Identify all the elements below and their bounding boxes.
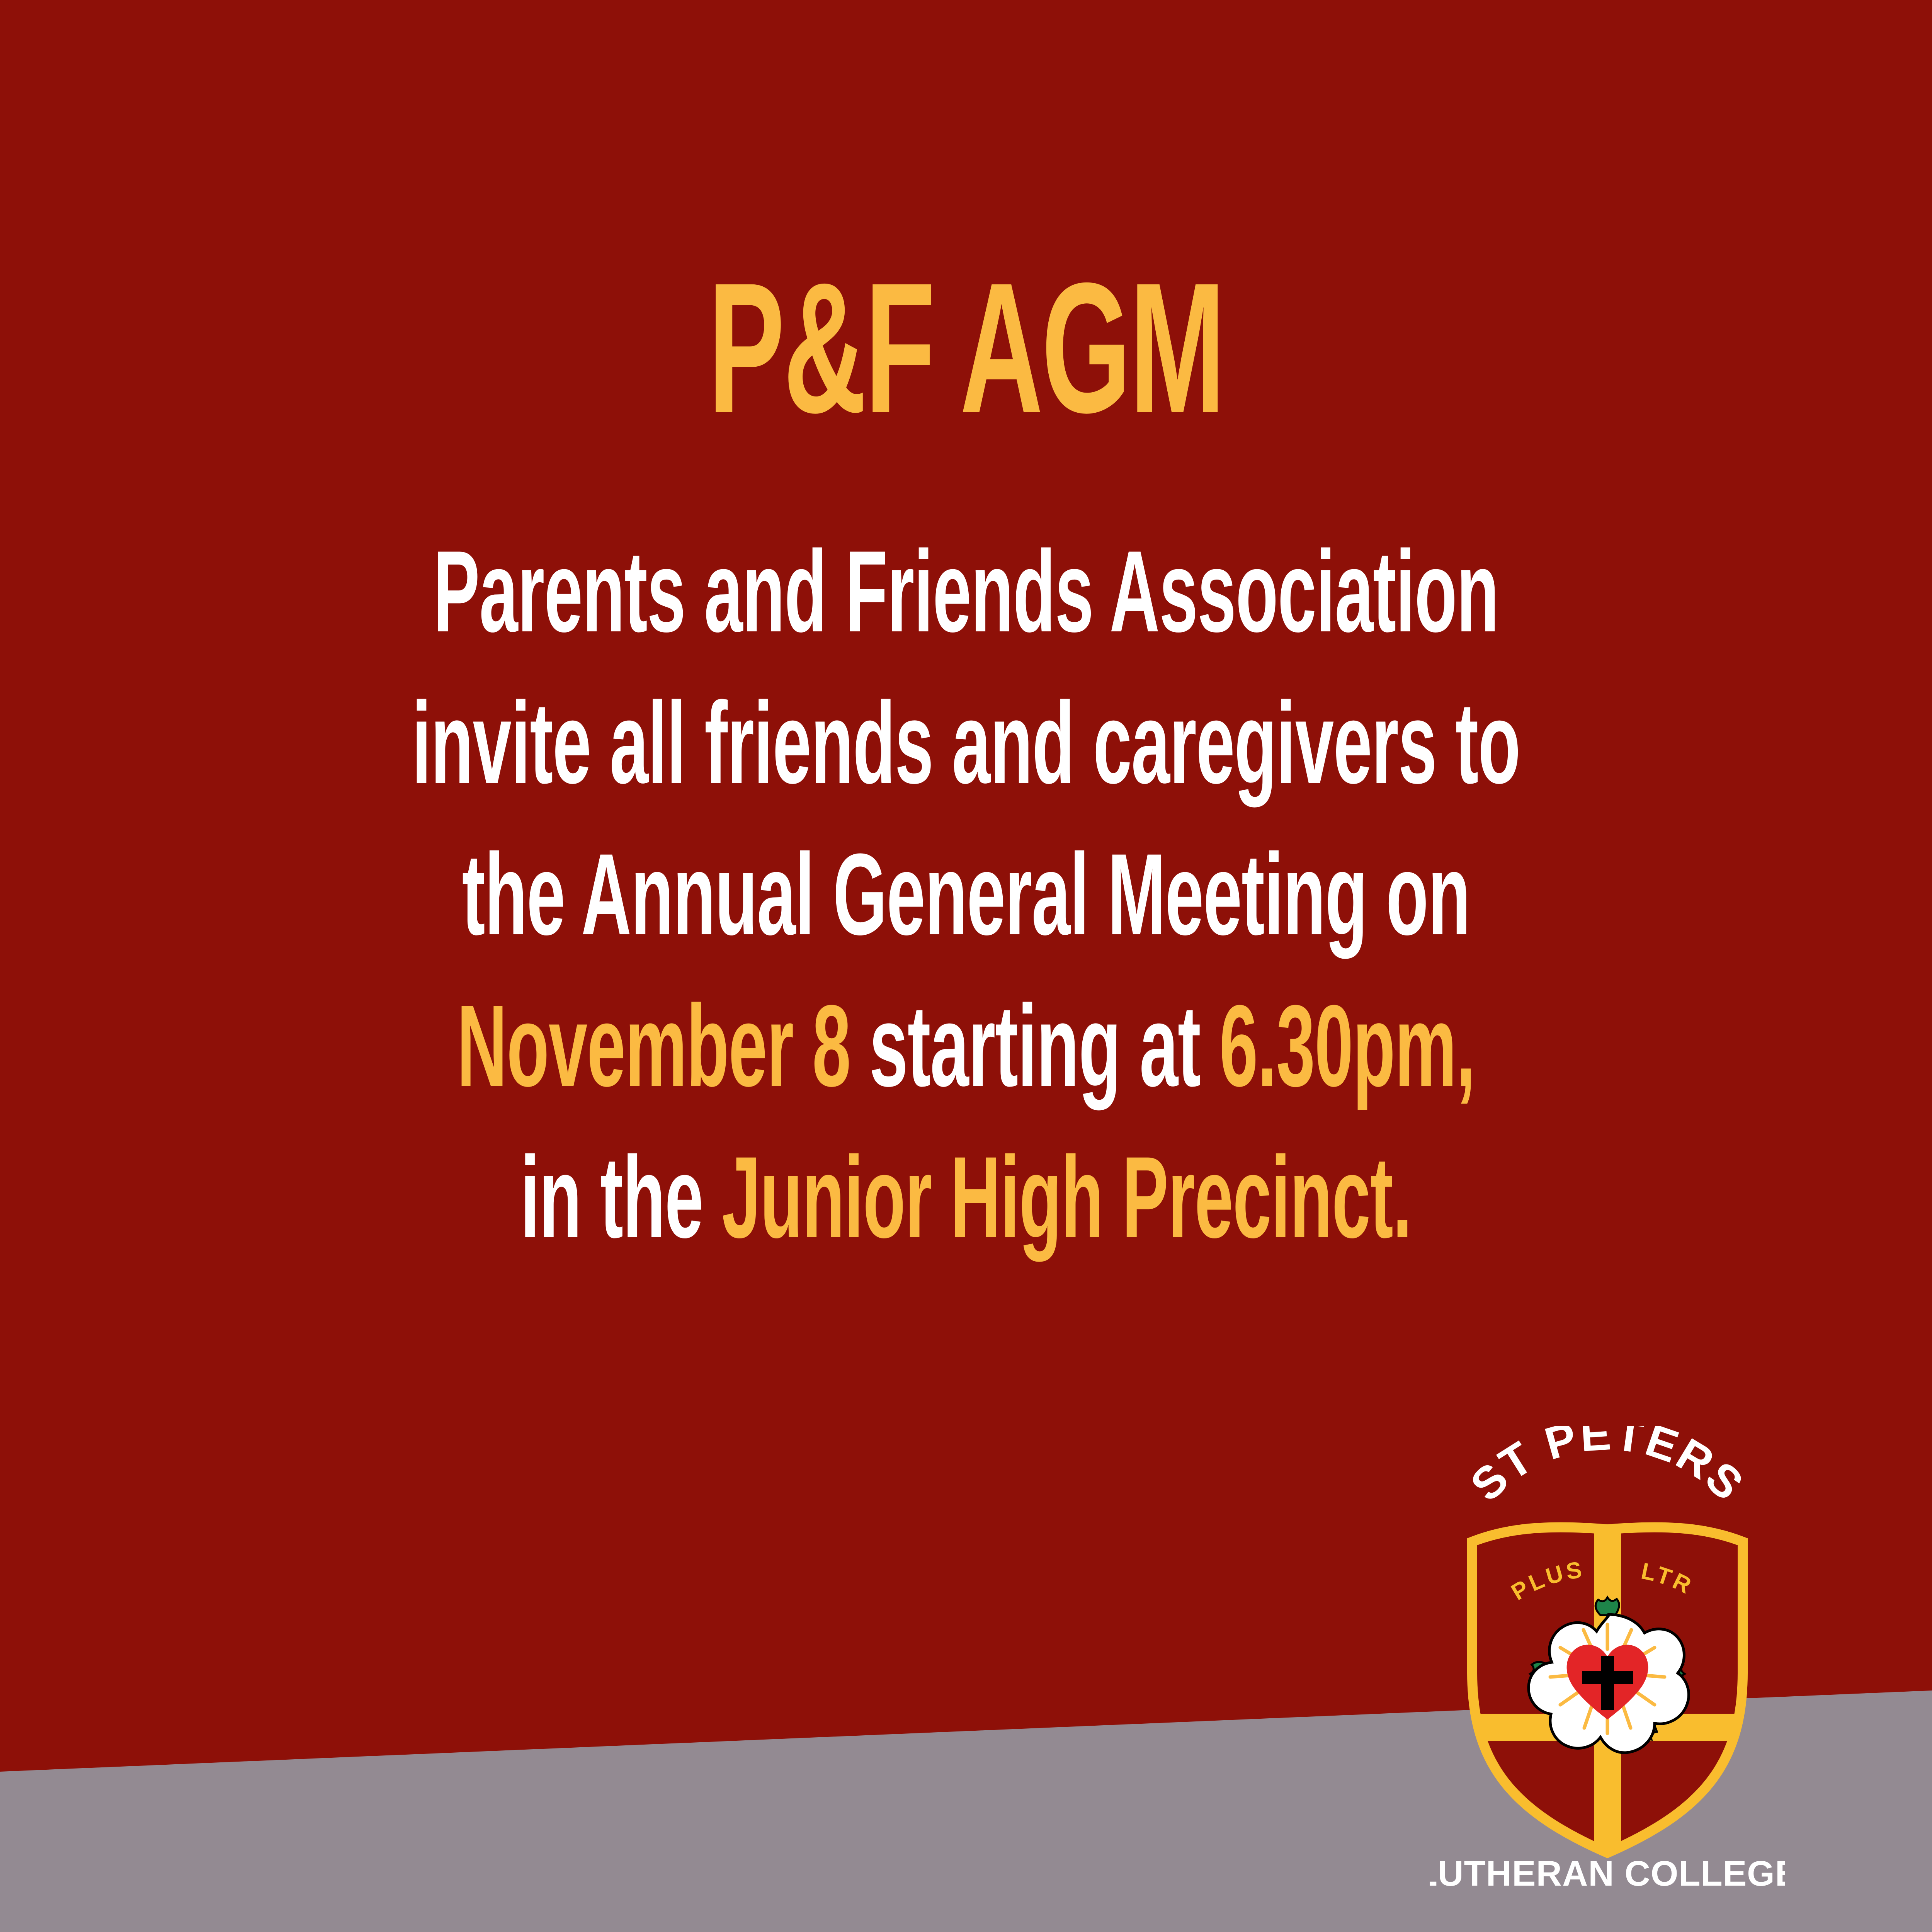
poster-canvas: P&F AGM Parents and Friends Association … [0, 0, 1932, 1932]
body-line-3-text: the Annual General Meeting on [462, 829, 1470, 959]
logo-bottom-text: LUTHERAN COLLEGE [1430, 1854, 1785, 1893]
body-line-4-connector: starting at [850, 981, 1219, 1111]
invitation-body: Parents and Friends Association invite a… [0, 533, 1932, 1291]
event-time: 6.30pm, [1219, 981, 1475, 1111]
body-line-1: Parents and Friends Association [386, 533, 1546, 685]
body-line-5: in the Junior High Precinct. [386, 1139, 1546, 1291]
school-logo: ST PETERS PLUS ULTRA [1430, 1426, 1785, 1897]
body-line-2-text: invite all friends and caregivers to [412, 678, 1520, 808]
body-line-5-prefix: in the [520, 1132, 722, 1262]
body-line-4: November 8 starting at 6.30pm, [386, 988, 1546, 1139]
body-line-2: invite all friends and caregivers to [386, 685, 1546, 836]
event-date: November 8 [457, 981, 850, 1111]
logo-top-arc-text: ST PETERS [1461, 1426, 1754, 1511]
event-location: Junior High Precinct. [722, 1132, 1412, 1262]
body-line-3: the Annual General Meeting on [386, 836, 1546, 988]
body-line-1-text: Parents and Friends Association [434, 526, 1499, 656]
page-title: P&F AGM [367, 255, 1565, 440]
